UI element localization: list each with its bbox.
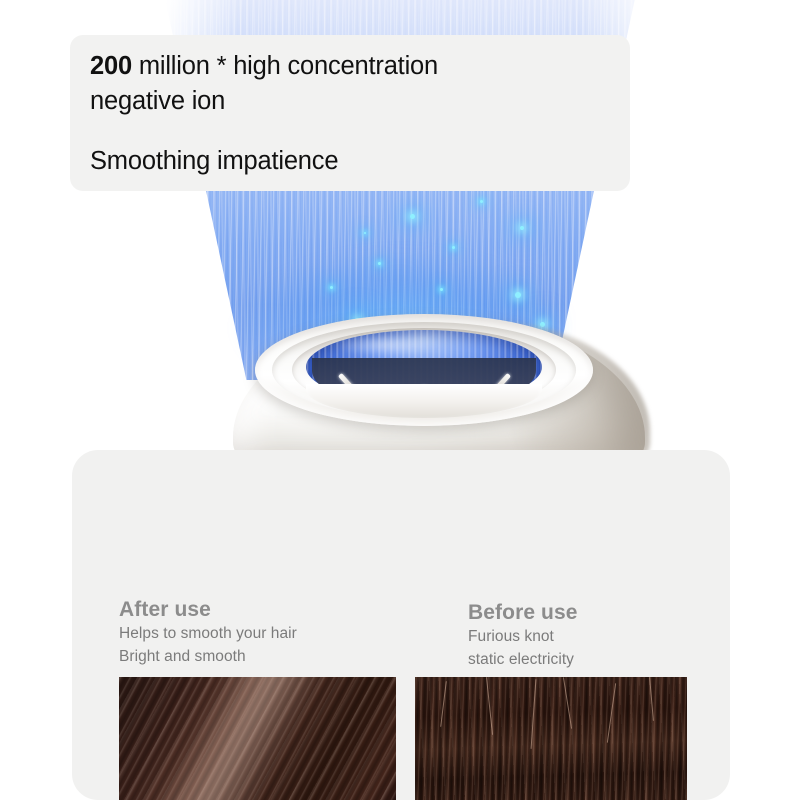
after-use-title: After use — [119, 598, 297, 622]
after-use-heading-group: After use Helps to smooth your hair Brig… — [119, 598, 297, 668]
frizzy-hair-texture — [415, 677, 687, 800]
ion-sparkle — [410, 214, 415, 219]
smooth-hair-gloss — [119, 677, 396, 800]
ion-sparkle — [452, 246, 455, 249]
headline-line2: negative ion — [90, 87, 225, 115]
before-use-line-1: Furious knot — [468, 625, 578, 648]
comparison-grid: After use Helps to smooth your hair Brig… — [72, 450, 730, 800]
vent-specular-highlight — [330, 334, 440, 356]
comparison-card: After use Helps to smooth your hair Brig… — [72, 450, 730, 800]
after-use-line-1: Helps to smooth your hair — [119, 622, 297, 645]
product-device — [0, 300, 800, 460]
ion-sparkle — [364, 232, 366, 234]
before-use-line-2: static electricity — [468, 648, 578, 671]
headline-card: 200 million * high concentrationnegative… — [70, 35, 630, 191]
before-use-title: Before use — [468, 601, 578, 625]
after-use-line-2: Bright and smooth — [119, 645, 297, 668]
ion-sparkle — [440, 288, 443, 291]
subheadline-text: Smoothing impatience — [90, 145, 610, 177]
headline-number: 200 — [90, 52, 132, 80]
headline-text: 200 million * high concentrationnegative… — [90, 49, 610, 119]
before-use-hair-photo — [415, 677, 687, 800]
before-use-heading-group: Before use Furious knot static electrici… — [468, 601, 578, 671]
headline-rest: million * high concentration — [132, 52, 438, 80]
after-use-hair-photo — [119, 677, 396, 800]
product-promo-image: 200 million * high concentrationnegative… — [0, 0, 800, 800]
ion-sparkle — [378, 262, 381, 265]
